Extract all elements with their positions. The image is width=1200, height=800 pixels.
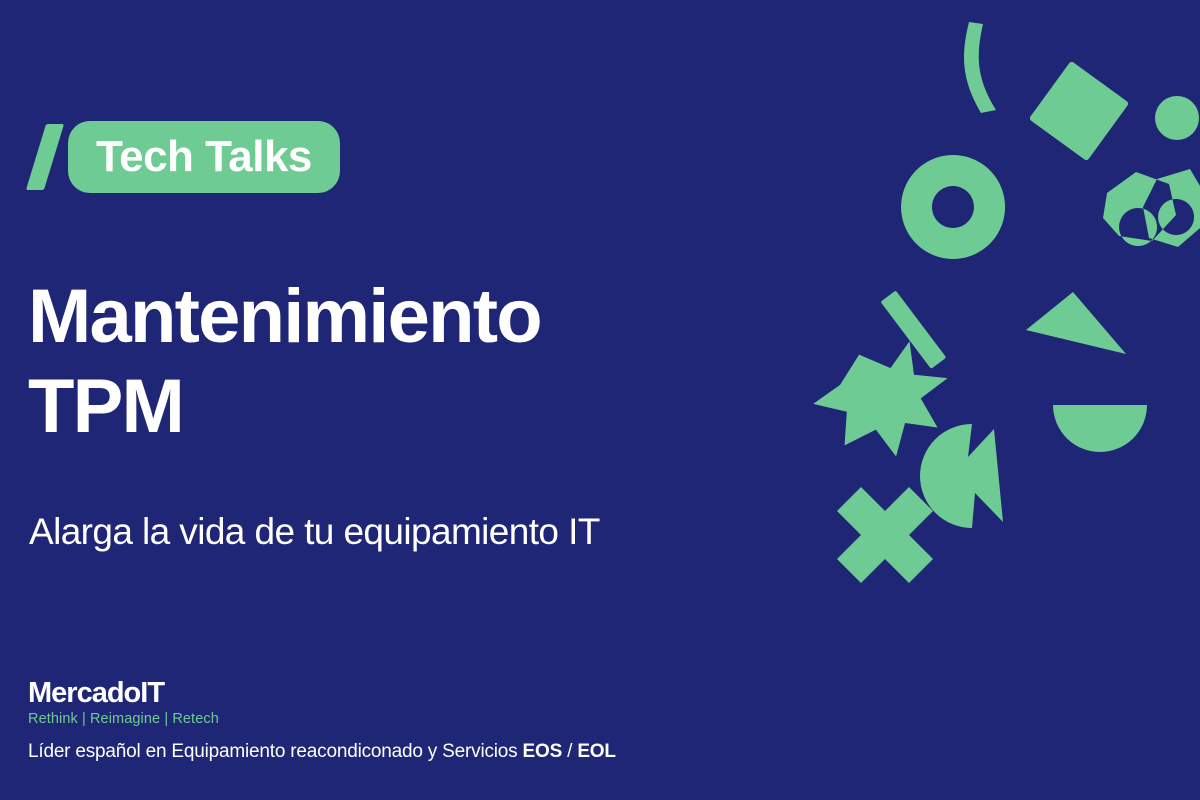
tech-talks-badge-label: Tech Talks (96, 135, 312, 179)
curved-stroke-shape (964, 22, 996, 113)
tech-talks-badge: Tech Talks (68, 121, 340, 193)
footer-strapline-eol: EOL (577, 741, 615, 762)
notched-circle-shape (920, 424, 1003, 528)
semicircle-shape (1053, 405, 1147, 452)
slide-title-line-1: Mantenimiento (28, 272, 828, 362)
small-circle-shape (1155, 96, 1199, 140)
donut-ring-shape (901, 155, 1005, 259)
presentation-slide: Tech Talks Mantenimiento TPM Alarga la v… (0, 0, 1200, 800)
eyebrow-row: Tech Talks (36, 118, 340, 196)
slide-footer: MercadoIT Rethink | Reimagine | Retech L… (28, 678, 928, 764)
slide-title: Mantenimiento TPM (28, 272, 828, 451)
diagonal-bar-shape (881, 290, 947, 369)
rotated-square-shape (1029, 61, 1130, 162)
eight-point-star-shape (813, 341, 947, 456)
slide-title-line-2: TPM (28, 362, 828, 452)
footer-strapline: Líder español en Equipamiento reacondico… (28, 741, 928, 764)
goggles-shape (1103, 169, 1200, 247)
footer-strapline-separator: / (562, 741, 577, 762)
mercadoit-logo-tagline: Rethink | Reimagine | Retech (28, 711, 928, 728)
slide-subtitle: Alarga la vida de tu equipamiento IT (29, 509, 600, 555)
triangle-shape (1026, 292, 1126, 354)
cross-x-shape (837, 487, 933, 583)
footer-strapline-eos: EOS (523, 741, 563, 762)
slash-mark-icon (26, 124, 64, 190)
footer-strapline-prefix: Líder español en Equipamiento reacondico… (28, 741, 523, 762)
mercadoit-logo-wordmark: MercadoIT (28, 678, 928, 708)
